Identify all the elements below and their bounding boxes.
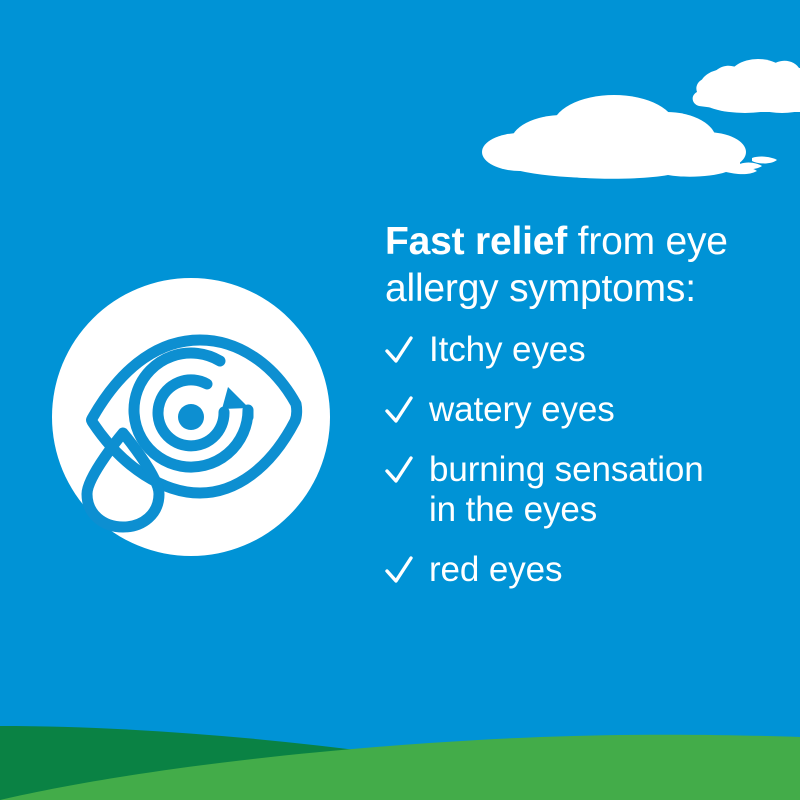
headline-strong: Fast relief	[385, 220, 567, 263]
headline: Fast relief from eye allergy symptoms:	[385, 218, 765, 312]
check-icon	[385, 554, 413, 588]
list-item: burning sensation in the eyes	[385, 450, 765, 530]
copy-block: Fast relief from eye allergy symptoms: I…	[385, 218, 765, 590]
list-item: watery eyes	[385, 390, 765, 430]
symptom-label: watery eyes	[429, 390, 615, 430]
list-item: red eyes	[385, 550, 765, 590]
symptom-list: Itchy eyes watery eyes burning sensation…	[385, 330, 765, 590]
list-item: Itchy eyes	[385, 330, 765, 370]
promo-banner: Fast relief from eye allergy symptoms: I…	[0, 0, 800, 800]
pupil	[178, 404, 204, 430]
check-icon	[385, 394, 413, 428]
check-icon	[385, 334, 413, 368]
crying-eye-icon	[52, 278, 330, 556]
check-icon	[385, 454, 413, 488]
symptom-label: red eyes	[429, 550, 562, 590]
symptom-label: burning sensation in the eyes	[429, 450, 704, 530]
symptom-label: Itchy eyes	[429, 330, 586, 370]
